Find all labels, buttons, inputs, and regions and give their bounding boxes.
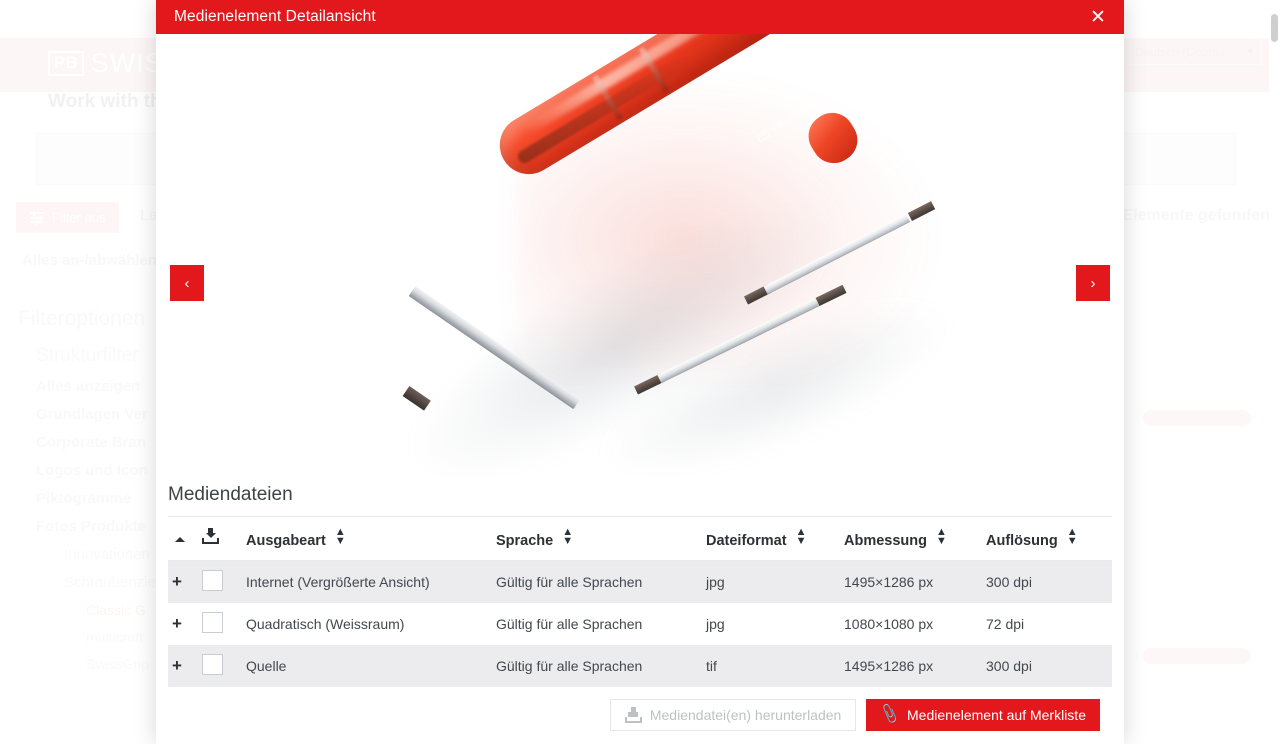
sidebar-item-label: Strukturfilter	[36, 345, 138, 366]
sliders-icon	[30, 212, 44, 223]
modal-titlebar: Medienelement Detailansicht ✕	[156, 0, 1124, 34]
add-to-watchlist-label: Medienelement auf Merkliste	[907, 707, 1086, 723]
paperclip-icon: 📎	[878, 705, 900, 725]
column-header-label: Auflösung	[986, 533, 1058, 549]
logo-mark: PB	[48, 51, 84, 76]
add-to-watchlist-button[interactable]: 📎 Medienelement auf Merkliste	[866, 699, 1100, 731]
column-header-dateiformat[interactable]: Dateiformat ▲▼	[702, 517, 840, 560]
row-checkbox[interactable]	[202, 612, 223, 633]
table-row[interactable]: +QuelleGültig für alle Sprachentif1495×1…	[168, 645, 1112, 687]
column-header-label: Sprache	[496, 533, 553, 549]
chevron-down-icon: ▾	[1247, 45, 1253, 58]
page-scrollbar[interactable]	[1269, 0, 1280, 744]
cell-abmessung: 1080×1080 px	[840, 603, 982, 645]
product-photo: PBSWISS TOOLS	[156, 34, 1124, 476]
row-checkbox[interactable]	[202, 654, 223, 675]
media-files-table: Ausgabeart ▲▼ Sprache ▲▼ Dateiformat ▲▼	[168, 517, 1112, 687]
expand-row-button[interactable]: +	[168, 603, 198, 645]
column-header-label: Dateiformat	[706, 533, 787, 549]
cell-sprache: Gültig für alle Sprachen	[492, 560, 702, 603]
screwdriver-handle	[489, 34, 802, 185]
screwdriver-tip	[403, 386, 431, 411]
table-row[interactable]: +Internet (Vergrößerte Ansicht)Gültig fü…	[168, 560, 1112, 603]
sort-icon: ▲▼	[796, 528, 807, 546]
table-header-row: Ausgabeart ▲▼ Sprache ▲▼ Dateiformat ▲▼	[168, 517, 1112, 560]
sidebar-item-label: Innovationen	[64, 546, 150, 563]
language-selector-value: Deutsch (Deuts…	[1135, 45, 1241, 59]
sort-icon: ▲▼	[562, 528, 573, 546]
filter-toggle-label: Filter aus	[52, 210, 105, 225]
sidebar-item-label: multicraft	[86, 629, 143, 645]
expand-row-button[interactable]: +	[168, 560, 198, 603]
result-thumbnail[interactable]	[1143, 410, 1251, 426]
cell-aufloesung: 72 dpi	[982, 603, 1112, 645]
results-count-label: Elemente gefunden	[1122, 207, 1270, 225]
screwdriver-cap	[800, 105, 865, 172]
triangle-up-icon	[175, 537, 185, 542]
media-files-section: Mediendateien Ausgabeart	[156, 476, 1124, 744]
row-select-cell[interactable]	[198, 645, 242, 687]
filter-options-title: Filteroptionen	[18, 307, 145, 331]
result-thumbnail[interactable]	[1143, 648, 1251, 664]
media-files-title: Mediendateien	[168, 476, 1112, 517]
column-header-aufloesung[interactable]: Auflösung ▲▼	[982, 517, 1112, 560]
sort-icon: ▲▼	[936, 528, 947, 546]
site-tagline: Work with the	[48, 91, 172, 113]
cell-sprache: Gültig für alle Sprachen	[492, 645, 702, 687]
cell-aufloesung: 300 dpi	[982, 645, 1112, 687]
page-scrollbar-thumb[interactable]	[1271, 14, 1278, 42]
sidebar-item-label: Classic G	[86, 602, 146, 618]
sidebar-item-label: Corporate Bran	[36, 434, 146, 451]
cell-aufloesung: 300 dpi	[982, 560, 1112, 603]
sidebar-item-label: Schraubenzieh	[64, 574, 164, 591]
cell-dateiformat: tif	[702, 645, 840, 687]
select-all-link[interactable]: Alles an-/abwählen	[22, 252, 157, 269]
close-icon[interactable]: ✕	[1072, 0, 1124, 34]
sidebar-item-label: Grundlagen Ver	[36, 406, 148, 423]
media-detail-modal: Medienelement Detailansicht ✕	[156, 0, 1124, 744]
cell-abmessung: 1495×1286 px	[840, 560, 982, 603]
next-media-button[interactable]: ›	[1076, 265, 1110, 301]
brand-mark: PB	[756, 129, 771, 142]
sidebar-item-label: Fotos Produkte	[36, 518, 146, 535]
column-header-expand[interactable]	[168, 517, 198, 560]
expand-row-button[interactable]: +	[168, 645, 198, 687]
cell-ausgabeart: Internet (Vergrößerte Ansicht)	[242, 560, 492, 603]
download-media-label: Mediendatei(en) herunterladen	[650, 707, 841, 723]
column-header-select[interactable]	[198, 517, 242, 560]
screwdriver-blade	[409, 286, 581, 409]
cell-ausgabeart: Quelle	[242, 645, 492, 687]
cell-dateiformat: jpg	[702, 560, 840, 603]
sort-icon: ▲▼	[335, 528, 346, 546]
column-header-label: Abmessung	[844, 533, 927, 549]
row-checkbox[interactable]	[202, 570, 223, 591]
plus-icon: +	[172, 614, 182, 633]
row-select-cell[interactable]	[198, 603, 242, 645]
download-tray-icon	[625, 707, 642, 723]
modal-title: Medienelement Detailansicht	[174, 8, 376, 26]
plus-icon: +	[172, 656, 182, 675]
plus-icon: +	[172, 572, 182, 591]
download-tray-icon	[202, 528, 219, 544]
table-row[interactable]: +Quadratisch (Weissraum)Gültig für alle …	[168, 603, 1112, 645]
column-header-ausgabeart[interactable]: Ausgabeart ▲▼	[242, 517, 492, 560]
modal-actions: Mediendatei(en) herunterladen 📎 Medienel…	[168, 687, 1112, 731]
sidebar-item-label: SwissGrip	[86, 656, 149, 672]
cell-ausgabeart: Quadratisch (Weissraum)	[242, 603, 492, 645]
filter-toggle-button[interactable]: Filter aus	[16, 202, 119, 233]
sort-icon: ▲▼	[1067, 528, 1078, 546]
sidebar-item-label: Logos und Icon	[36, 462, 148, 479]
row-select-cell[interactable]	[198, 560, 242, 603]
sidebar-item-label: Piktogramme	[36, 490, 131, 507]
cell-dateiformat: jpg	[702, 603, 840, 645]
cell-abmessung: 1495×1286 px	[840, 645, 982, 687]
sidebar-item-label: Alles anzeigen	[36, 378, 140, 395]
column-header-sprache[interactable]: Sprache ▲▼	[492, 517, 702, 560]
previous-media-button[interactable]: ‹	[170, 265, 204, 301]
column-header-label: Ausgabeart	[246, 533, 326, 549]
media-preview-stage: PBSWISS TOOLS ‹ ›	[156, 34, 1124, 476]
column-header-abmessung[interactable]: Abmessung ▲▼	[840, 517, 982, 560]
language-selector[interactable]: Deutsch (Deuts… ▾	[1106, 38, 1262, 65]
cell-sprache: Gültig für alle Sprachen	[492, 603, 702, 645]
download-media-button[interactable]: Mediendatei(en) herunterladen	[610, 699, 856, 731]
modal-body: PBSWISS TOOLS ‹ › Mediendateien	[156, 34, 1124, 744]
